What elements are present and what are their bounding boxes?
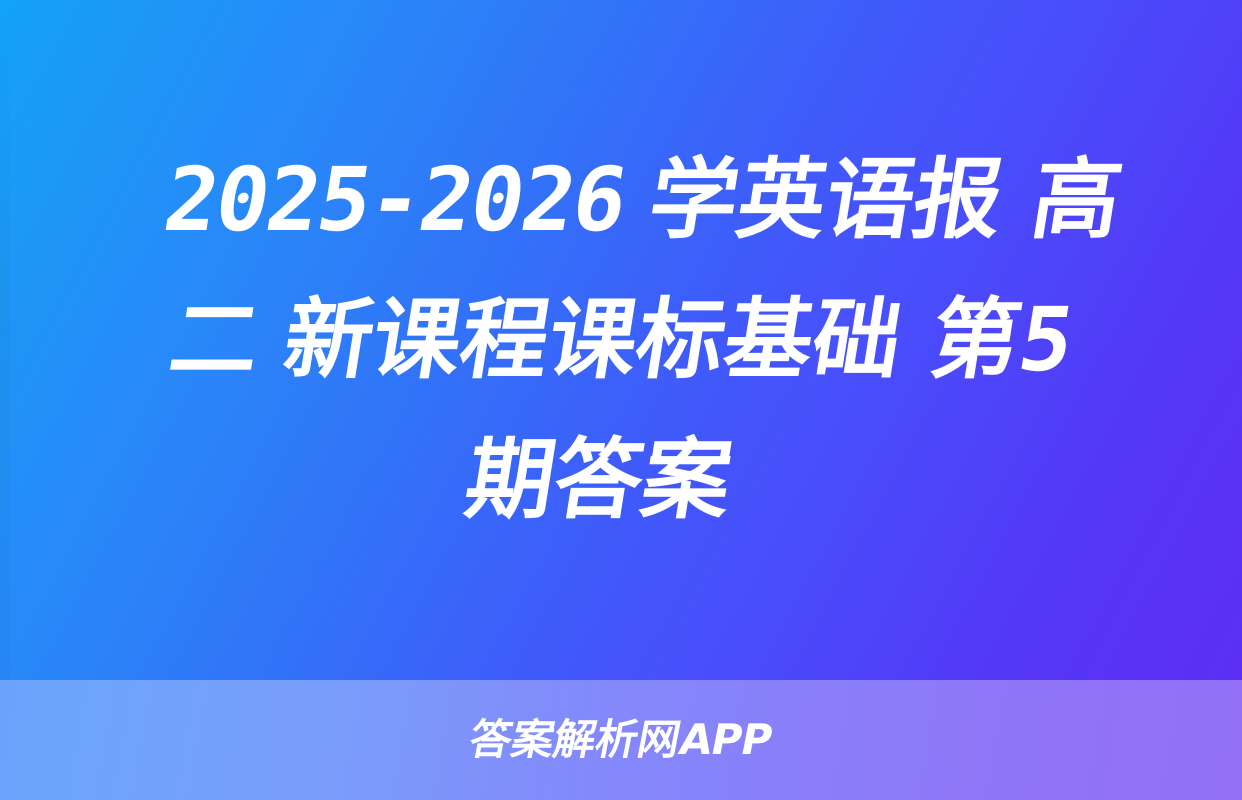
title-grade-level: 二 [163, 288, 267, 391]
title-line-3: 期答案 [33, 410, 1165, 550]
title-line-1-text: 学英语报 高 [642, 148, 1129, 251]
footer-watermark-band: 答案解析网APP [0, 680, 1242, 800]
watermark-app-label: APP [676, 715, 777, 764]
watermark: 答案解析网APP [466, 719, 775, 761]
title-line-1: 2025-2026学英语报 高 [77, 130, 1209, 270]
page-title: 2025-2026学英语报 高 二新课程课标基础 第5 期答案 [33, 130, 1210, 550]
title-area: 2025-2026学英语报 高 二新课程课标基础 第5 期答案 [0, 0, 1242, 680]
poster-canvas: 2025-2026学英语报 高 二新课程课标基础 第5 期答案 答案解析网APP [0, 0, 1242, 800]
watermark-site-name: 答案解析网 [466, 715, 686, 764]
title-line-2: 二新课程课标基础 第5 [55, 270, 1187, 410]
title-year-range: 2025-2026 [157, 148, 632, 251]
title-line-2-text: 新课程课标基础 第 [277, 288, 1028, 391]
